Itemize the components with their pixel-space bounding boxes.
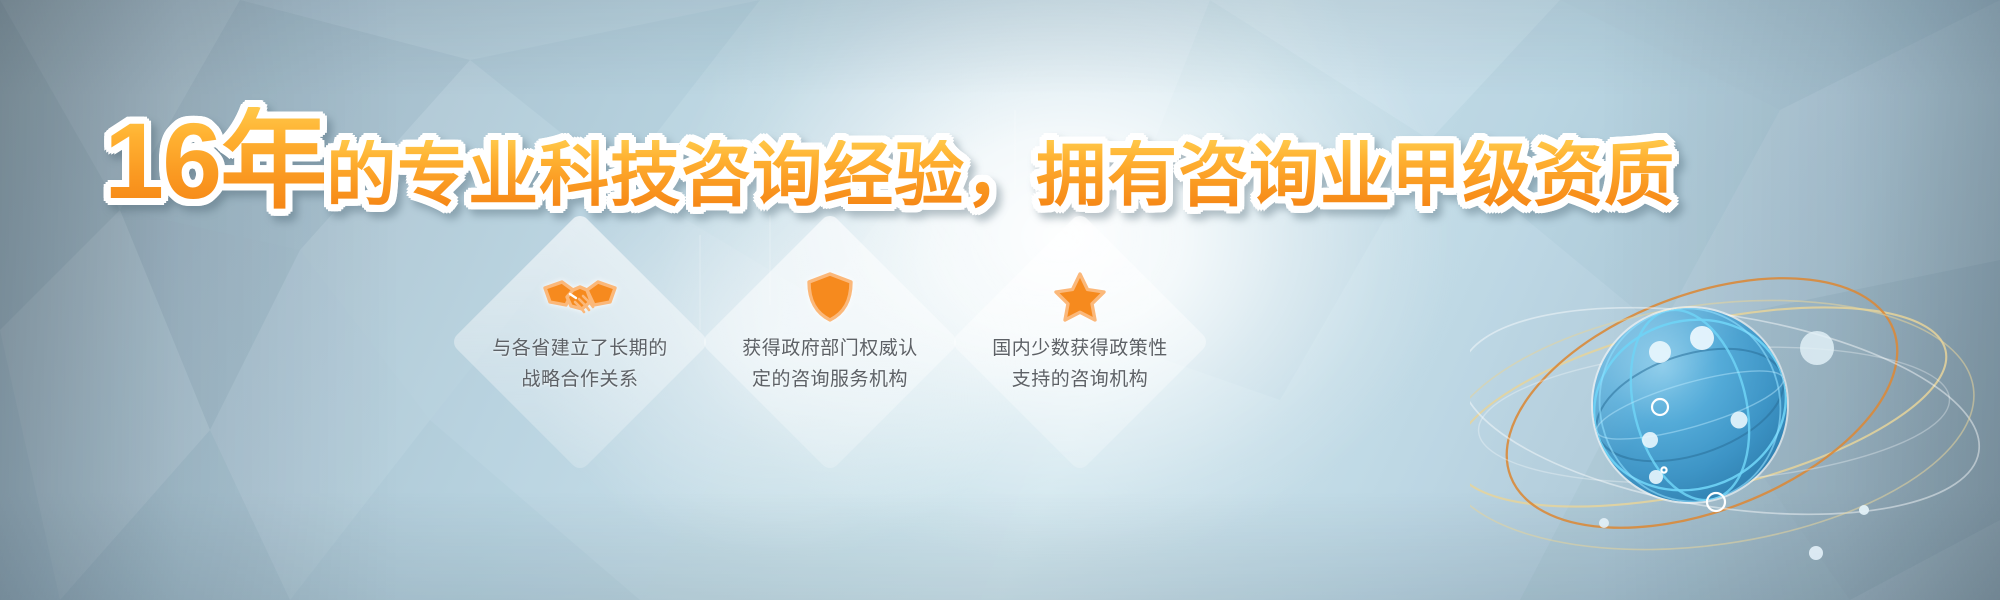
card-text-line-2: 定的咨询服务机构 [742,365,918,396]
feature-card[interactable]: 获得政府部门权威认 定的咨询服务机构 [720,232,940,452]
feature-card[interactable]: 与各省建立了长期的 战略合作关系 [470,232,690,452]
card-text: 获得政府部门权威认 定的咨询服务机构 [742,334,918,396]
handshake-icon [542,274,618,320]
card-text: 与各省建立了长期的 战略合作关系 [492,334,668,396]
feature-card[interactable]: 国内少数获得政策性 支持的咨询机构 [970,232,1190,452]
star-icon [1053,274,1107,320]
promo-banner: 16年的专业科技咨询经验，拥有咨询业甲级资质 [0,0,2000,600]
globe-network-graphic [1470,235,1990,575]
shield-icon [804,274,856,320]
card-text-line-2: 战略合作关系 [492,365,668,396]
card-text-line-2: 支持的咨询机构 [992,365,1168,396]
card-text-line-1: 获得政府部门权威认 [742,334,918,365]
card-text-line-1: 与各省建立了长期的 [492,334,668,365]
card-text: 国内少数获得政策性 支持的咨询机构 [992,334,1168,396]
card-text-line-1: 国内少数获得政策性 [992,334,1168,365]
